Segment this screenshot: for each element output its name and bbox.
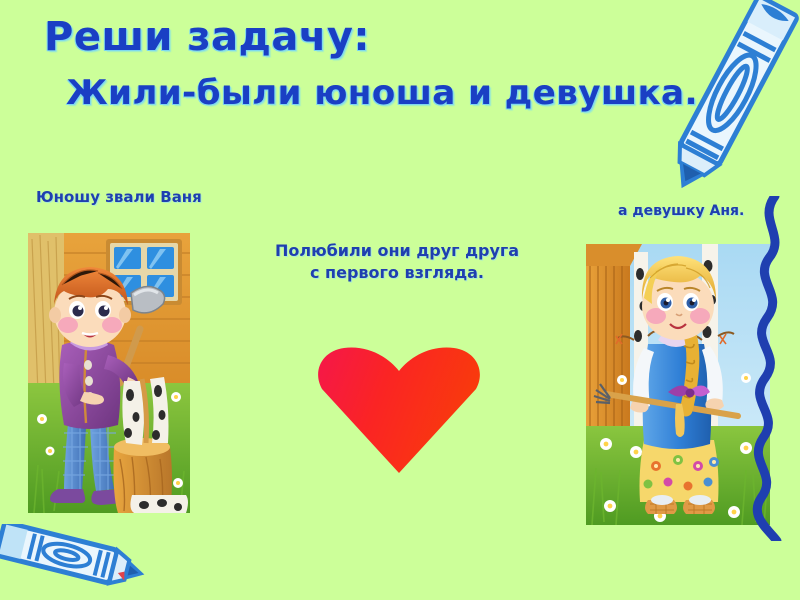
crayon-graphic-top (655, 0, 800, 203)
heart-graphic (316, 345, 482, 475)
page-title-line-1: Реши задачу: (44, 14, 370, 60)
caption-center-text: Полюбили они друг друга с первого взгляд… (252, 240, 542, 284)
blue-crayon-top-right-icon (655, 0, 800, 203)
page-title-line-2: Жили-были юноша и девушка. (66, 73, 698, 113)
illustration-boy-chopping-wood (28, 233, 190, 513)
crayon-graphic-bottom (0, 524, 154, 594)
heart-icon (316, 345, 482, 475)
boy-illustration-graphic (28, 233, 190, 513)
blue-wavy-ribbon-decoration (735, 196, 797, 541)
caption-boy-name: Юношу звали Ваня (36, 188, 202, 206)
caption-girl-name: а девушку Аня. (618, 203, 744, 219)
slide-canvas: Реши задачу: Жили-были юноша и девушка. … (0, 0, 800, 600)
caption-center-line-2: с первого взгляда. (252, 262, 542, 284)
caption-center-line-1: Полюбили они друг друга (252, 240, 542, 262)
blue-crayon-bottom-left-icon (0, 524, 154, 594)
wavy-ribbon-graphic (735, 196, 797, 541)
